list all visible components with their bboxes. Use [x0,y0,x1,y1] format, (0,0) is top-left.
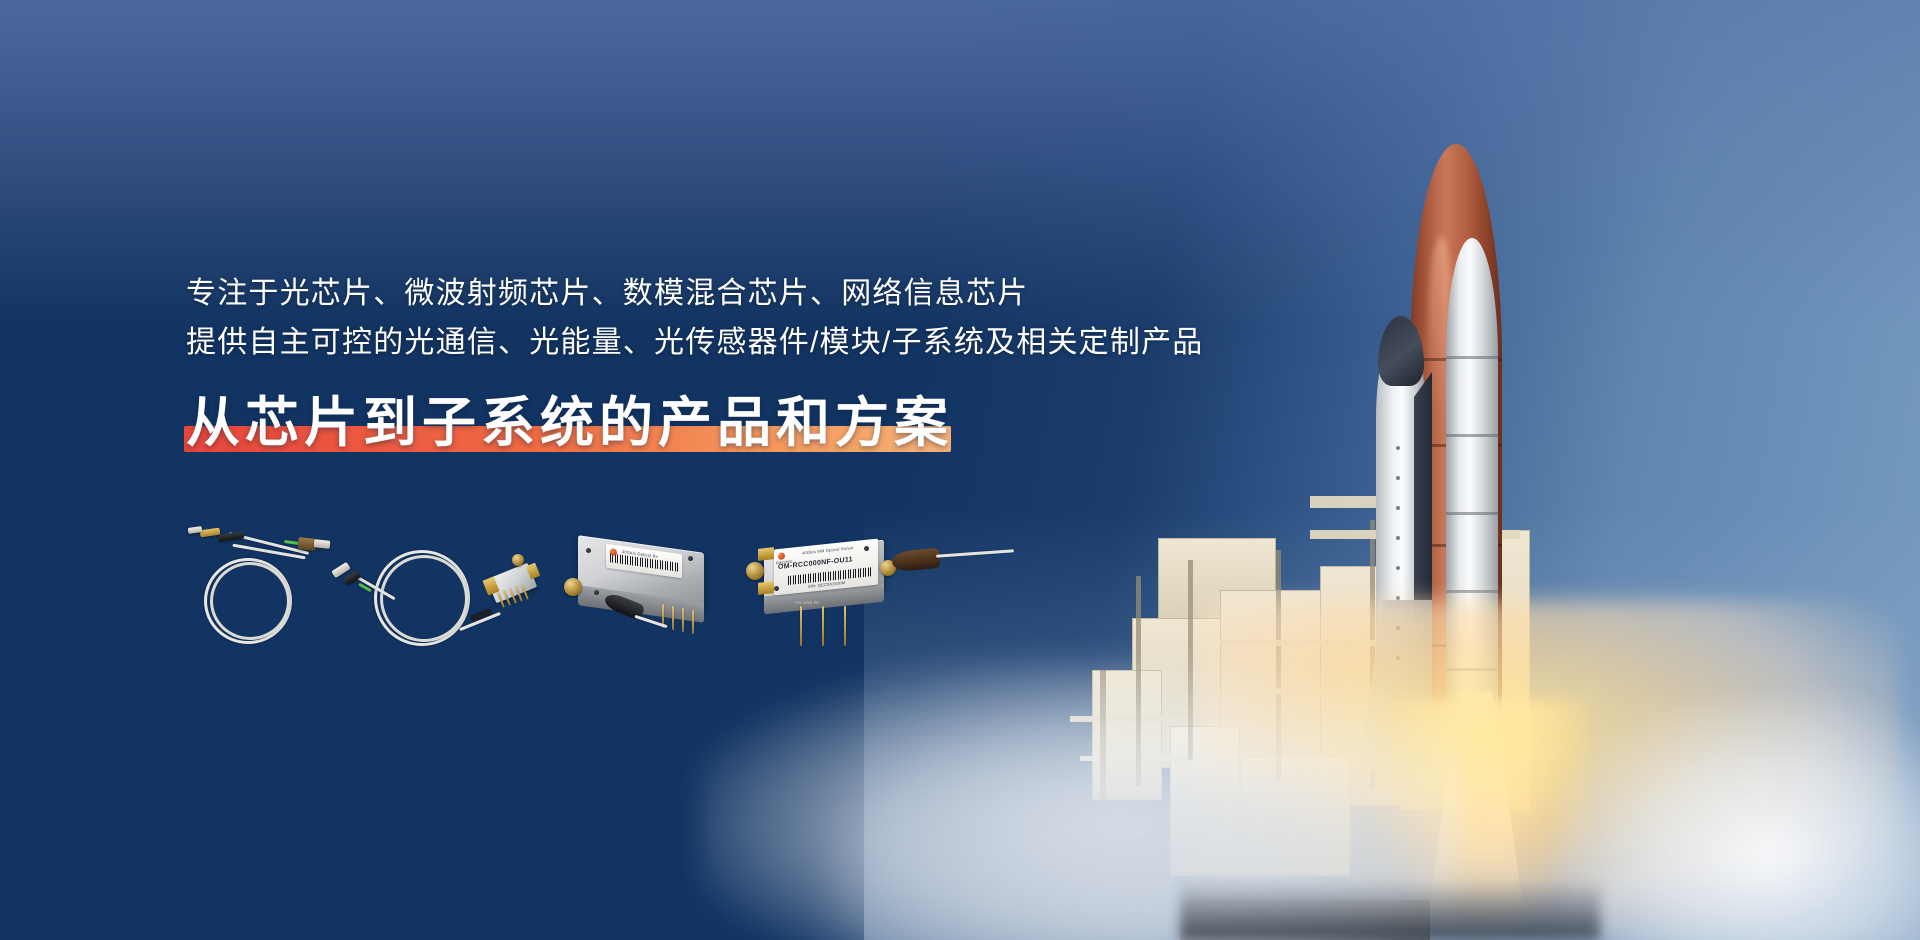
banner-subtitle-line-2: 提供自主可控的光通信、光能量、光传感器件/模块/子系统及相关定制产品 [186,319,1286,368]
ground-shadow [1180,880,1600,940]
label-pins: +5V GND RF [794,600,820,605]
banner-headline: 从芯片到子系统的产品和方案 [186,393,953,453]
banner-headline-wrap: 从芯片到子系统的产品和方案 [186,393,953,453]
exhaust-plume-right [1560,700,1920,940]
product-optical-receiver-module: EMCORE 40Gb/s MM Optical Rx/wA OM-RCC000… [740,524,1020,664]
label-part-number: OM-RCC000NF-OU11 [778,556,853,571]
product-images-row: 40Gb/s Optical Rx EMCORE 40Gb/s MM Optic… [180,520,1200,680]
hero-banner: 专注于光芯片、微波射频芯片、数模混合芯片、网络信息芯片 提供自主可控的光通信、光… [0,0,1920,940]
label-spec: 40Gb/s MM Optical Rx/wA [802,545,854,555]
product-rf-metal-module: 40Gb/s Optical Rx [558,532,748,662]
banner-text-block: 专注于光芯片、微波射频芯片、数模混合芯片、网络信息芯片 提供自主可控的光通信、光… [186,270,1286,454]
banner-subtitle-line-1: 专注于光芯片、微波射频芯片、数模混合芯片、网络信息芯片 [186,270,1286,319]
product-fiber-pigtail-butterfly [330,534,540,664]
product-fiber-pigtail-1 [180,520,340,650]
